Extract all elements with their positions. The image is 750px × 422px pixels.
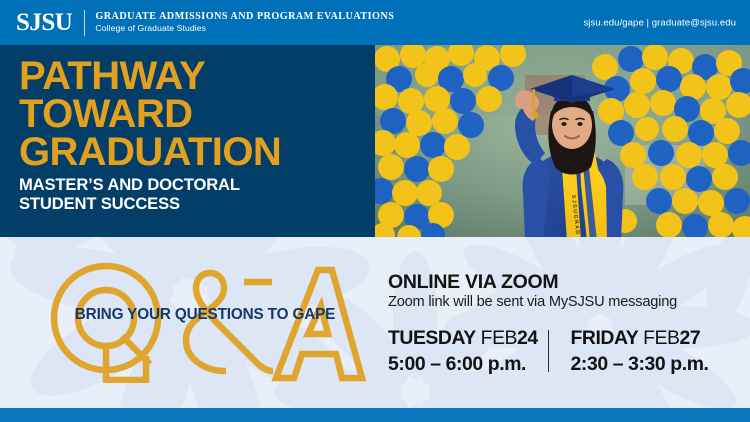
session-1-daynum: 24 (517, 327, 538, 349)
qa-caption: BRING YOUR QUESTIONS TO GAPE (40, 306, 370, 324)
platform-note: Zoom link will be sent via MySJSU messag… (388, 294, 738, 312)
platform-title: ONLINE VIA ZOOM (388, 272, 738, 292)
header-titles: GRADUATE ADMISSIONS AND PROGRAM EVALUATI… (95, 11, 394, 35)
event-subheadline: MASTER’S AND DOCTORAL STUDENT SUCCESS (19, 176, 240, 214)
session-item-1: TUESDAY FEB24 5:00 – 6:00 p.m. (388, 328, 548, 376)
session-item-2: FRIDAY FEB27 2:30 – 3:30 p.m. (549, 328, 740, 376)
session-1-time: 5:00 – 6:00 p.m. (388, 353, 548, 376)
sjsu-wordmark-logo: SJSU (16, 10, 72, 35)
session-1-month: FEB (481, 327, 517, 349)
zoom-details: ONLINE VIA ZOOM Zoom link will be sent v… (388, 272, 738, 312)
headline-line-1: PATHWAY (19, 57, 281, 95)
session-2-daynum: 27 (680, 327, 701, 349)
headline-panel: PATHWAY TOWARD GRADUATION MASTER’S AND D… (0, 45, 375, 237)
header-contact-links[interactable]: sjsu.edu/gape | graduate@sjsu.edu (583, 17, 736, 28)
session-1-day: TUESDAY (388, 327, 476, 349)
headline-line-3: GRADUATION (19, 133, 281, 171)
qa-graphic-block: BRING YOUR QUESTIONS TO GAPE (40, 258, 370, 383)
site-header: SJSU GRADUATE ADMISSIONS AND PROGRAM EVA… (0, 0, 750, 45)
session-2-date: FRIDAY FEB27 (571, 328, 740, 350)
logo-divider (84, 10, 85, 36)
graduate-photo-illustration: S J S U G R A D (375, 45, 750, 241)
headline-line-2: TOWARD (19, 95, 281, 133)
session-1-date: TUESDAY FEB24 (388, 328, 548, 350)
session-2-day: FRIDAY (571, 327, 639, 349)
event-headline: PATHWAY TOWARD GRADUATION (19, 57, 281, 172)
session-2-time: 2:30 – 3:30 p.m. (571, 353, 740, 376)
session-list: TUESDAY FEB24 5:00 – 6:00 p.m. FRIDAY FE… (388, 328, 740, 376)
subheadline-line-1: MASTER’S AND DOCTORAL (19, 176, 240, 195)
graduate-photo: S J S U G R A D (375, 45, 750, 241)
department-title: GRADUATE ADMISSIONS AND PROGRAM EVALUATI… (95, 11, 394, 24)
subheadline-line-2: STUDENT SUCCESS (19, 195, 240, 214)
footer-accent-bar (0, 408, 750, 422)
session-2-month: FEB (643, 327, 679, 349)
event-flyer: SJSU GRADUATE ADMISSIONS AND PROGRAM EVA… (0, 0, 750, 422)
brand-lockup[interactable]: SJSU GRADUATE ADMISSIONS AND PROGRAM EVA… (0, 10, 394, 36)
college-subtitle: College of Graduate Studies (95, 23, 394, 34)
